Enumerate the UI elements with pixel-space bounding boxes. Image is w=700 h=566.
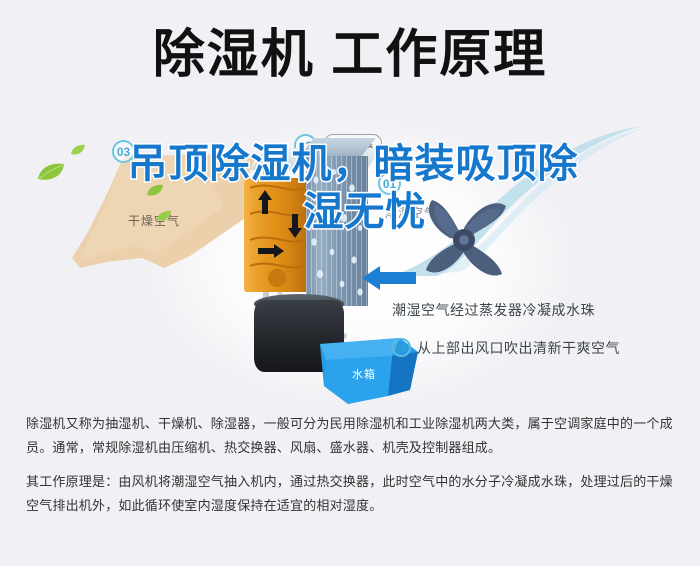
water-tank-label: 水箱 [352,366,376,382]
leaf-icon [156,210,172,222]
body-paragraph-2-text: 其工作原理是：由风机将潮湿空气抽入机内，通过热交换器，此时空气中的水分子冷凝成水… [26,470,678,518]
legend-item-03-text: 从上部出风口吹出清新干爽空气 [417,340,620,356]
step-badge-03: 03 [112,140,135,163]
legend-item-03: 03从上部出风口吹出清新干爽空气 [392,338,620,358]
air-inlet-arrow-icon [362,266,416,290]
leaf-icon [70,144,86,156]
dehumidifier-machine: 水箱 [236,148,426,398]
leaf-icon [146,184,164,197]
diagram-stage: 干燥空气 潮湿空气 03 02 01 热交 [0,112,700,404]
evaporator-block [306,156,368,306]
fan-blades-icon [418,196,510,282]
body-paragraph-2: 其工作原理是：由风机将潮湿空气抽入机内，通过热交换器，此时空气中的水分子冷凝成水… [26,470,678,518]
body-paragraph-1: 除湿机又称为抽湿机、干燥机、除湿器，一般可分为民用除湿机和工业除湿机两大类，属于… [26,412,678,460]
dry-air-label: 干燥空气 [128,212,180,229]
legend-badge-03: 03 [392,338,411,357]
condensation-droplets-icon [306,156,368,306]
body-paragraph-1-text: 除湿机又称为抽湿机、干燥机、除湿器，一般可分为民用除湿机和工业除湿机两大类，属于… [26,412,678,460]
title-band: 除湿机 工作原理 [0,0,700,118]
page-title: 除湿机 工作原理 [0,24,700,86]
page-root: 除湿机 工作原理 干燥空气 潮湿空气 [0,0,700,566]
leaf-icon [36,162,66,182]
legend-item-02: 潮湿空气经过蒸发器冷凝成水珠 [392,300,595,320]
